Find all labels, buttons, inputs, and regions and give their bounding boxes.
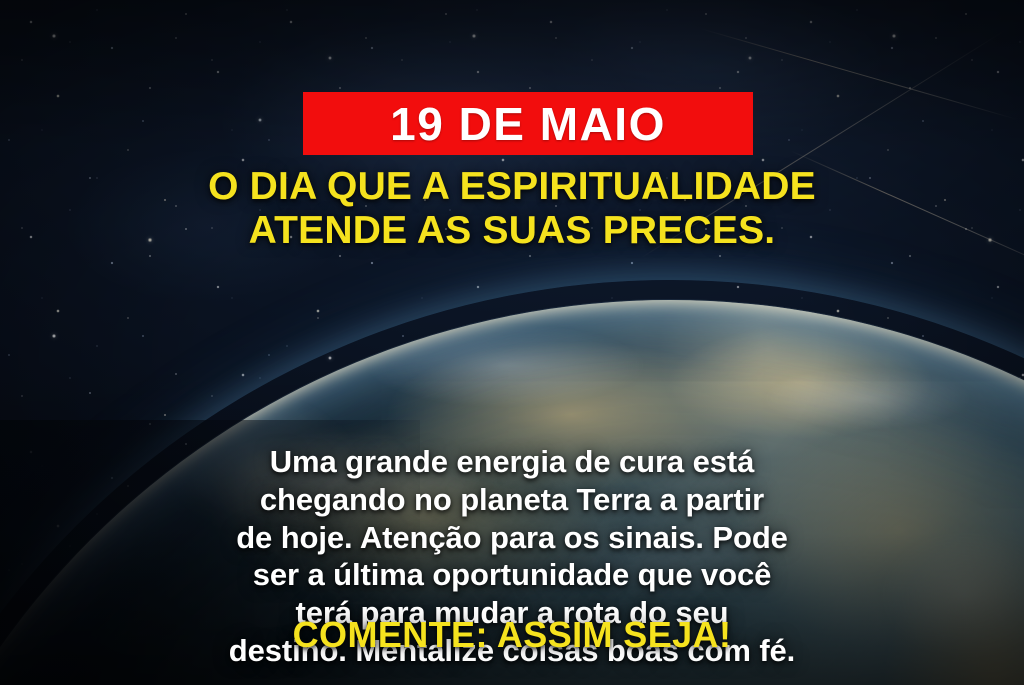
date-banner: 19 DE MAIO [303,92,753,155]
poster-canvas: 19 DE MAIO O DIA QUE A ESPIRITUALIDADE A… [0,0,1024,685]
body-line-4: ser a última oportunidade que você [62,556,962,594]
headline-line-2: ATENDE AS SUAS PRECES. [0,209,1024,253]
call-to-action: COMENTE: ASSIM SEJA! [0,614,1024,656]
headline: O DIA QUE A ESPIRITUALIDADE ATENDE AS SU… [0,165,1024,254]
body-line-2: chegando no planeta Terra a partir [62,481,962,519]
call-to-action-label: COMENTE: ASSIM SEJA! [293,614,732,655]
date-banner-label: 19 DE MAIO [390,101,666,147]
content-layer: 19 DE MAIO O DIA QUE A ESPIRITUALIDADE A… [0,0,1024,685]
headline-line-1: O DIA QUE A ESPIRITUALIDADE [0,165,1024,209]
body-line-1: Uma grande energia de cura está [62,443,962,481]
body-line-3: de hoje. Atenção para os sinais. Pode [62,519,962,557]
